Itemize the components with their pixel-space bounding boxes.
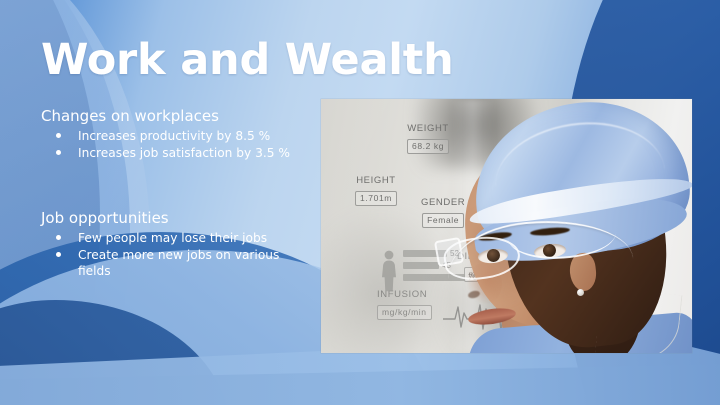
hud-height: HEIGHT 1.701m <box>355 175 397 206</box>
hud-height-label: HEIGHT <box>355 175 397 186</box>
slide-title: Work and Wealth <box>41 38 454 83</box>
list-item-label: Few people may lose their jobs <box>78 231 267 245</box>
list-item-label: Increases job satisfaction by 3.5 % <box>78 146 290 160</box>
hud-infusion-value: mg/kg/min <box>377 305 432 320</box>
person-earring <box>577 289 584 296</box>
hud-weight-value: 68.2 kg <box>407 139 449 154</box>
hud-weight-label: WEIGHT <box>407 123 449 134</box>
person-pictogram-icon <box>379 249 399 293</box>
presentation-slide: Work and Wealth Changes on workplaces In… <box>0 0 720 405</box>
list-item: Few people may lose their jobs <box>41 230 313 246</box>
list-item: Increases productivity by 8.5 % <box>41 128 313 144</box>
slide-image: WEIGHT 68.2 kg HEIGHT 1.701m GENDER Fema… <box>321 99 692 353</box>
section-job-opportunities: Job opportunities Few people may lose th… <box>41 209 313 279</box>
slide-body-content: Changes on workplaces Increases producti… <box>41 107 313 280</box>
hud-height-value: 1.701m <box>355 191 397 206</box>
bullet-list: Few people may lose their jobs Create mo… <box>41 230 313 279</box>
bullet-dot-icon <box>56 133 61 138</box>
metric-bar-fill <box>403 262 439 269</box>
section-spacer <box>41 162 313 209</box>
list-item: Create more new jobs on various fields <box>41 247 313 279</box>
photo-person <box>448 99 692 353</box>
bullet-dot-icon <box>56 150 61 155</box>
list-item-label: Increases productivity by 8.5 % <box>78 129 270 143</box>
list-item: Increases job satisfaction by 3.5 % <box>41 145 313 161</box>
bullet-dot-icon <box>56 235 61 240</box>
hud-infusion: INFUSION mg/kg/min <box>377 289 432 320</box>
list-item-label: Create more new jobs on various fields <box>78 248 279 278</box>
hud-weight: WEIGHT 68.2 kg <box>407 123 449 154</box>
headset-wire <box>595 287 683 353</box>
section-heading: Job opportunities <box>41 209 313 228</box>
bullet-dot-icon <box>56 252 61 257</box>
section-heading: Changes on workplaces <box>41 107 313 126</box>
section-changes-on-workplaces: Changes on workplaces Increases producti… <box>41 107 313 161</box>
bullet-list: Increases productivity by 8.5 % Increase… <box>41 128 313 161</box>
